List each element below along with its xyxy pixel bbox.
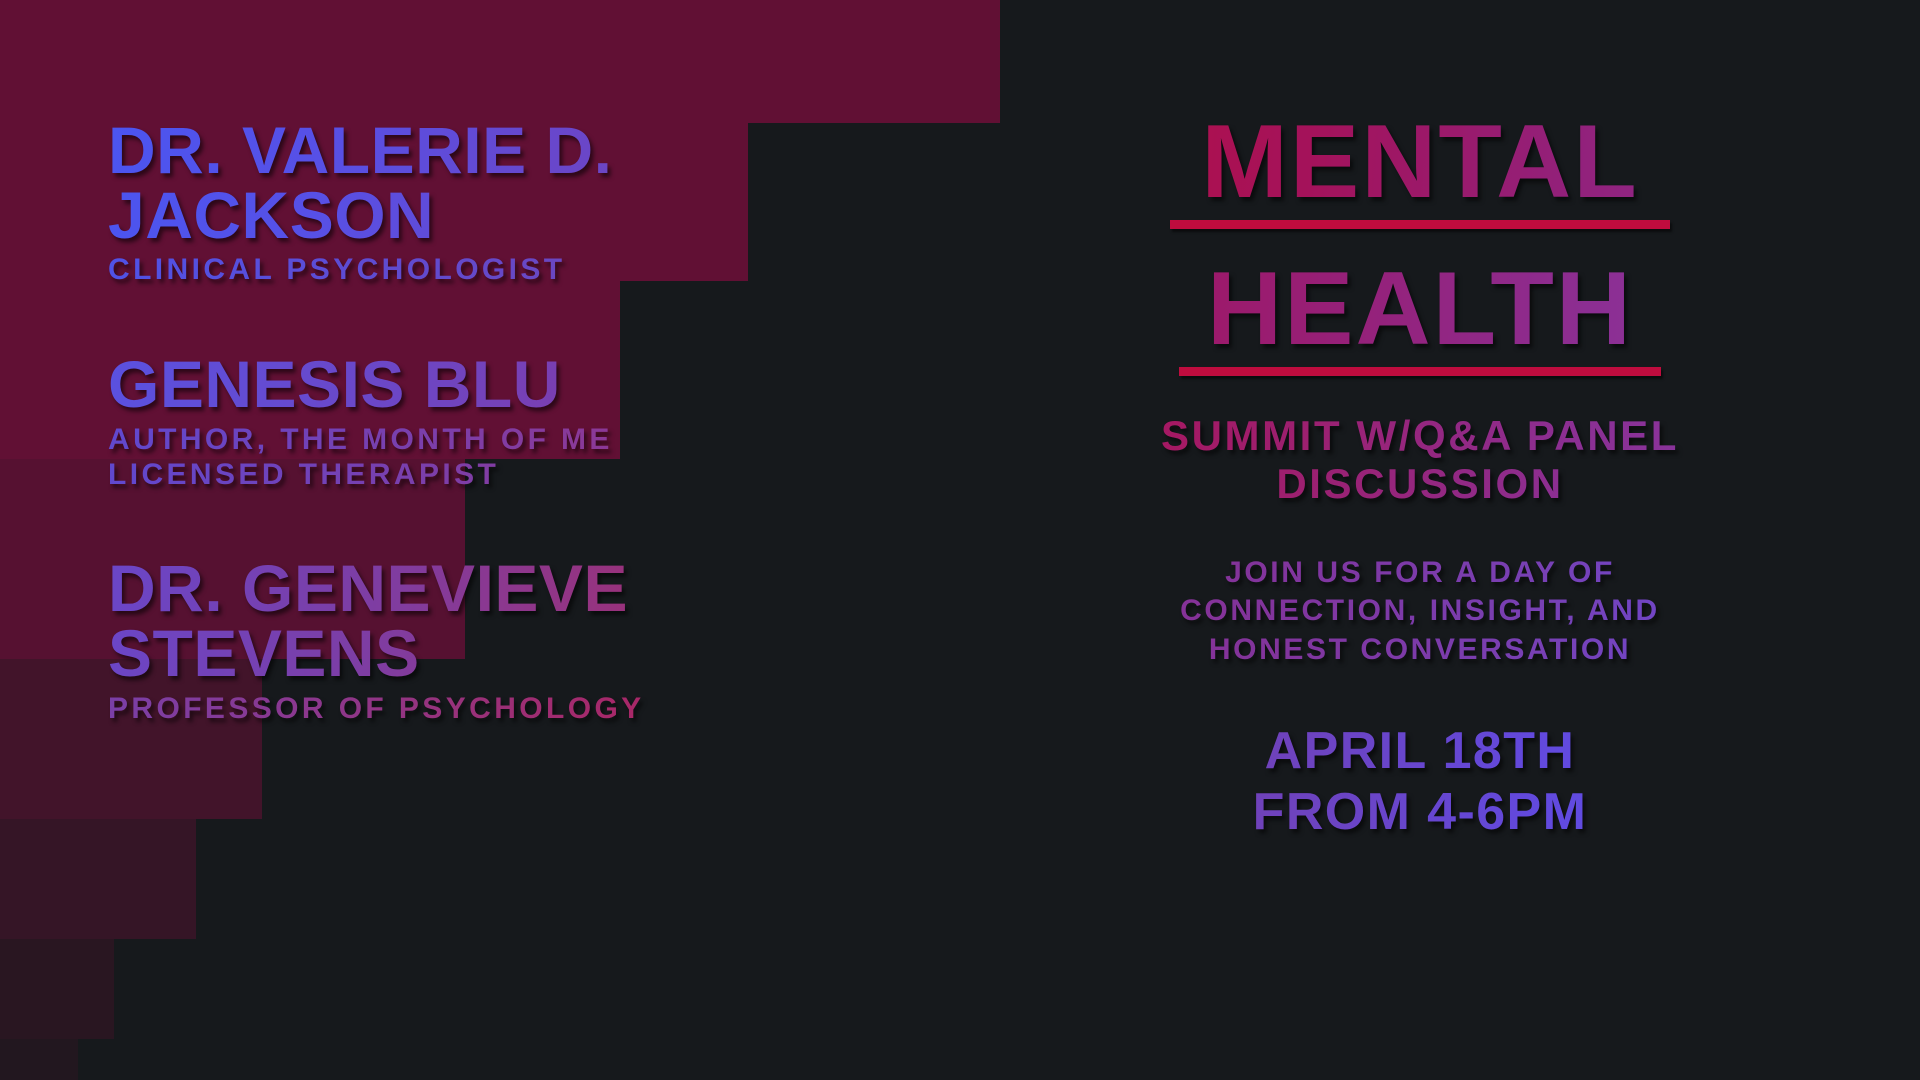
speaker-role: AUTHOR, THE MONTH OF ME	[108, 423, 868, 458]
event-title-line-1: MENTAL	[1040, 110, 1800, 229]
event-subtitle-line-1: SUMMIT W/Q&A PANEL	[1040, 412, 1800, 460]
speaker-role: CLINICAL PSYCHOLOGIST	[108, 253, 868, 288]
speaker-name: DR. GENEVIEVE STEVENS	[108, 556, 868, 685]
speaker-role: PROFESSOR OF PSYCHOLOGY	[108, 692, 868, 727]
background-step-7	[0, 939, 114, 1039]
event-datetime: APRIL 18TH FROM 4-6PM	[1040, 721, 1800, 844]
event-subtitle: SUMMIT W/Q&A PANEL DISCUSSION	[1040, 412, 1800, 508]
speaker-card-3: DR. GENEVIEVE STEVENS PROFESSOR OF PSYCH…	[108, 556, 868, 726]
event-blurb-line-2: CONNECTION, INSIGHT, AND	[1040, 592, 1800, 630]
background-step-1	[0, 0, 1000, 123]
event-blurb-line-3: HONEST CONVERSATION	[1040, 631, 1800, 669]
page-title-second: HEALTH	[1040, 257, 1800, 361]
speaker-name: GENESIS BLU	[108, 352, 868, 417]
event-blurb-line-1: JOIN US FOR A DAY OF	[1040, 554, 1800, 592]
speaker-card-2: GENESIS BLU AUTHOR, THE MONTH OF ME LICE…	[108, 352, 868, 492]
speaker-card-1: DR. VALERIE D. JACKSON CLINICAL PSYCHOLO…	[108, 118, 868, 288]
event-date: APRIL 18TH	[1040, 721, 1800, 782]
background-step-8	[0, 1039, 78, 1080]
speaker-role-secondary: LICENSED THERAPIST	[108, 458, 868, 493]
event-blurb: JOIN US FOR A DAY OF CONNECTION, INSIGHT…	[1040, 554, 1800, 669]
background-step-6	[0, 819, 196, 939]
event-time: FROM 4-6PM	[1040, 782, 1800, 843]
speaker-name: DR. VALERIE D. JACKSON	[108, 118, 868, 247]
page-title: MENTAL	[1040, 110, 1800, 214]
poster-canvas: DR. VALERIE D. JACKSON CLINICAL PSYCHOLO…	[0, 0, 1920, 1080]
event-subtitle-line-2: DISCUSSION	[1040, 460, 1800, 508]
speaker-list: DR. VALERIE D. JACKSON CLINICAL PSYCHOLO…	[108, 118, 868, 727]
title-underline-2	[1179, 367, 1661, 376]
event-title-line-2: HEALTH	[1040, 257, 1800, 376]
title-underline-1	[1170, 220, 1670, 229]
event-details: MENTAL HEALTH SUMMIT W/Q&A PANEL DISCUSS…	[1040, 110, 1800, 844]
